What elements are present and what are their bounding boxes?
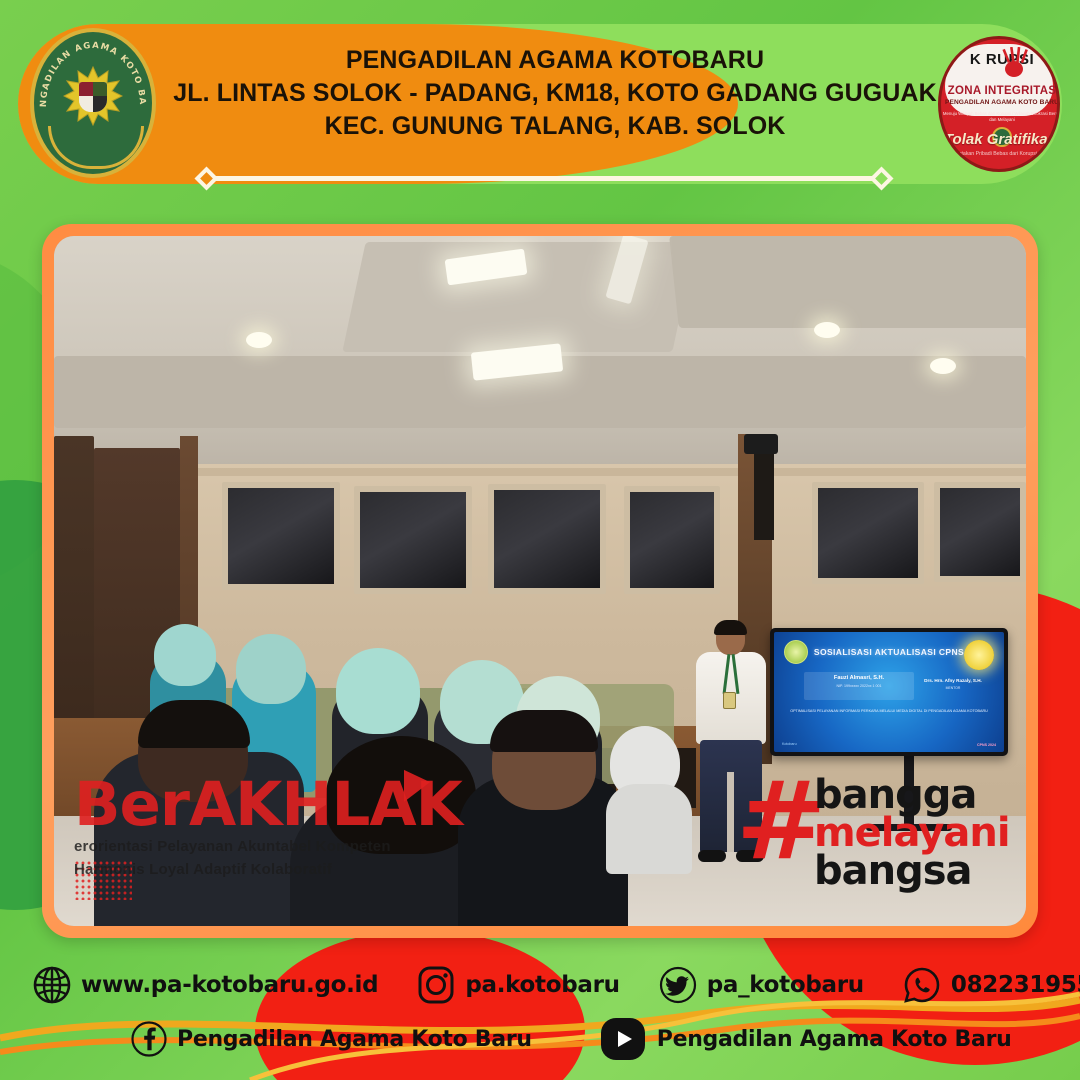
presenter-hair bbox=[714, 620, 747, 635]
zi-subtitle: PENGADILAN AGAMA KOTO BARU bbox=[941, 99, 1060, 106]
twitter-icon bbox=[658, 965, 698, 1005]
youtube-link[interactable]: Pengadilan Agama Koto Baru bbox=[598, 1015, 1012, 1063]
page-title: PENGADILAN AGAMA KOTOBARU JL. LINTAS SOL… bbox=[160, 44, 950, 143]
footer-row-2: Pengadilan Agama Koto Baru Pengadilan Ag… bbox=[130, 1015, 1030, 1063]
audience-hijab-2 bbox=[236, 634, 306, 704]
header-divider bbox=[196, 168, 892, 188]
window-1 bbox=[222, 482, 340, 590]
twitter-label: pa_kotobaru bbox=[707, 972, 864, 998]
zi-tiny-text: Menuju Wilayah Bebas dari Korupsi / Wila… bbox=[941, 111, 1060, 123]
ceiling-speaker bbox=[744, 434, 778, 454]
audience-front-hair-3 bbox=[490, 710, 598, 752]
whatsapp-icon bbox=[902, 965, 942, 1005]
whatsapp-label: 082231955356 bbox=[951, 972, 1080, 998]
window-4 bbox=[624, 486, 720, 594]
instagram-icon bbox=[416, 965, 456, 1005]
presentation-tv: SOSIALISASI AKTUALISASI CPNS Fauzi Almas… bbox=[770, 628, 1008, 756]
downlight-1 bbox=[246, 332, 272, 348]
screen-mentor-role: MENTOR bbox=[914, 686, 992, 690]
website-link[interactable]: www.pa-kotobaru.go.id bbox=[32, 965, 378, 1005]
screen-presenter-nip: NIP. 199xxxxx 2022xx 1 001 bbox=[804, 684, 914, 688]
downlight-3 bbox=[930, 358, 956, 374]
audience-hijab-1 bbox=[154, 624, 216, 686]
zi-tolak-gratifikasi: Tolak Gratifikasi bbox=[941, 131, 1060, 148]
screen-brand-text: CPNS 2024 bbox=[977, 743, 996, 747]
window-6 bbox=[934, 482, 1026, 582]
wall-niche bbox=[754, 450, 774, 540]
audience-body-white bbox=[606, 784, 692, 874]
website-label: www.pa-kotobaru.go.id bbox=[81, 972, 378, 998]
instagram-link[interactable]: pa.kotobaru bbox=[416, 965, 619, 1005]
audience-hijab-3 bbox=[336, 648, 420, 734]
presentation-screen: SOSIALISASI AKTUALISASI CPNS Fauzi Almas… bbox=[774, 632, 1004, 752]
bangga-melayani-bangsa-watermark: # bangga melayani bangsa bbox=[736, 768, 1006, 888]
zi-tolak-sub: Ciptakan Pribadi Bebas dari Korupsi (SPI… bbox=[941, 151, 1060, 157]
facebook-label: Pengadilan Agama Koto Baru bbox=[177, 1027, 532, 1052]
wall-strip bbox=[54, 468, 1026, 476]
court-emblem: PENGADILAN AGAMA KOTO BARU bbox=[30, 28, 156, 178]
photo-frame: SOSIALISASI AKTUALISASI CPNS Fauzi Almas… bbox=[42, 224, 1038, 938]
event-photo: SOSIALISASI AKTUALISASI CPNS Fauzi Almas… bbox=[54, 236, 1026, 926]
screen-presenter-name: Fauzi Almasri, S.H. bbox=[804, 675, 914, 681]
screen-caption: OPTIMALISASI PELAYANAN INFORMASI PERKARA… bbox=[788, 708, 990, 714]
presenter-shoe-left bbox=[698, 850, 726, 862]
screen-presenter-box: Fauzi Almasri, S.H. NIP. 199xxxxx 2022xx… bbox=[804, 672, 914, 700]
facebook-link[interactable]: Pengadilan Agama Koto Baru bbox=[130, 1020, 532, 1058]
presenter-leg-gap bbox=[727, 772, 734, 852]
header-line-3: KEC. GUNUNG TALANG, KAB. SOLOK bbox=[160, 110, 950, 143]
screen-footer-text: Kotobaru bbox=[782, 742, 797, 746]
header-line-1: PENGADILAN AGAMA KOTOBARU bbox=[160, 44, 950, 77]
divider-bar bbox=[206, 176, 882, 181]
facebook-icon bbox=[130, 1020, 168, 1058]
audience-front-head-2 bbox=[326, 736, 476, 854]
window-3 bbox=[488, 484, 606, 594]
poster-root: PENGADILAN AGAMA KOTO BARU PENGADILAN AG… bbox=[0, 0, 1080, 1080]
hashtag-icon: # bbox=[736, 776, 822, 880]
ceiling-panel-2 bbox=[669, 236, 1026, 328]
footer-row-1: www.pa-kotobaru.go.id pa.kotobaru pa_kot… bbox=[32, 965, 1052, 1005]
presenter-id-badge bbox=[723, 692, 736, 709]
bangga-line-3: bangsa bbox=[814, 848, 972, 894]
zi-title: ZONA INTEGRITAS bbox=[941, 85, 1060, 97]
footer-contacts: www.pa-kotobaru.go.id pa.kotobaru pa_kot… bbox=[0, 950, 1080, 1080]
window-5 bbox=[812, 482, 924, 584]
globe-icon bbox=[32, 965, 72, 1005]
youtube-icon bbox=[598, 1015, 648, 1063]
downlight-2 bbox=[814, 322, 840, 338]
header-line-2: JL. LINTAS SOLOK - PADANG, KM18, KOTO GA… bbox=[160, 77, 950, 110]
window-2 bbox=[354, 486, 472, 594]
instagram-label: pa.kotobaru bbox=[465, 972, 619, 998]
whatsapp-link[interactable]: 082231955356 bbox=[902, 965, 1080, 1005]
youtube-label: Pengadilan Agama Koto Baru bbox=[657, 1027, 1012, 1052]
twitter-link[interactable]: pa_kotobaru bbox=[658, 965, 864, 1005]
emblem-shield-icon bbox=[79, 82, 107, 112]
zi-circle: K RUPSI ZONA INTEGRITAS PENGADILAN AGAMA… bbox=[938, 36, 1060, 172]
red-hand-icon bbox=[999, 47, 1033, 81]
screen-title: SOSIALISASI AKTUALISASI CPNS bbox=[774, 647, 1004, 657]
zona-integritas-badge: K RUPSI ZONA INTEGRITAS PENGADILAN AGAMA… bbox=[938, 36, 1060, 172]
screen-mentor-name: Drs. Hrn. Afny Razaly, S.H. bbox=[914, 678, 992, 683]
